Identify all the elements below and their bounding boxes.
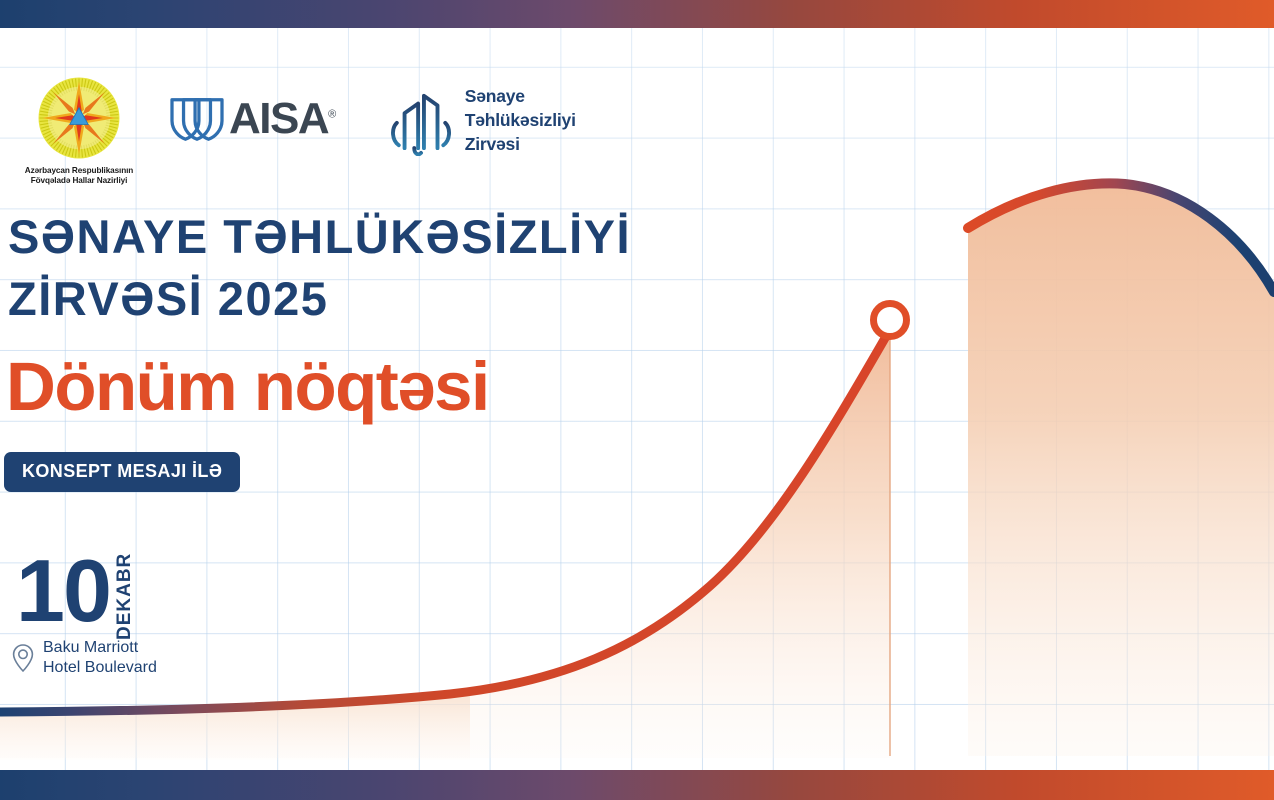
ministry-logo: Azərbaycan Respublikasının Fövqəladə Hal… [14, 72, 144, 187]
ministry-caption-line2: Fövqəladə Hallar Nazirliyi [25, 176, 133, 186]
poster-canvas: Azərbaycan Respublikasının Fövqəladə Hal… [0, 0, 1274, 800]
mes-emblem-icon [33, 72, 125, 164]
curve-end-marker-icon [874, 304, 907, 337]
location-pin-icon [10, 643, 36, 673]
aisa-registered-mark: ® [328, 108, 335, 120]
summit-line-3: Zirvəsi [465, 132, 576, 156]
peak-dome-area [968, 183, 1274, 756]
logo-row: Azərbaycan Respublikasının Fövqəladə Hal… [14, 72, 576, 187]
event-venue-text: Baku Marriott Hotel Boulevard [43, 638, 157, 677]
bottom-gradient-bar [0, 770, 1274, 800]
aisa-shield-icon [166, 94, 228, 144]
top-gradient-bar [0, 0, 1274, 28]
summit-line-2: Təhlükəsizliyi [465, 108, 576, 132]
aisa-wordmark: AISA® [229, 97, 335, 141]
event-date-day: 10 [16, 552, 110, 629]
event-venue: Baku Marriott Hotel Boulevard [10, 638, 157, 677]
summit-buildings-icon [391, 84, 453, 156]
page-subtitle: Dönüm nöqtəsi [6, 352, 489, 421]
page-title: SƏNAYE TƏHLÜKƏSİZLİYİ ZİRVƏSİ 2025 [8, 206, 631, 330]
ministry-caption: Azərbaycan Respublikasının Fövqəladə Hal… [25, 166, 133, 187]
aisa-logo: AISA® [166, 94, 335, 144]
concept-message-badge: KONSEPT MESAJI İLƏ [4, 452, 240, 492]
summit-line-1: Sənaye [465, 84, 576, 108]
aisa-wordmark-text: AISA [229, 94, 328, 143]
event-date: 10 DEKABR [16, 552, 136, 640]
summit-logo: Sənaye Təhlükəsizliyi Zirvəsi [391, 84, 576, 156]
event-date-month: DEKABR [114, 556, 136, 640]
summit-wordmark: Sənaye Təhlükəsizliyi Zirvəsi [465, 84, 576, 156]
ministry-caption-line1: Azərbaycan Respublikasının [25, 166, 133, 176]
